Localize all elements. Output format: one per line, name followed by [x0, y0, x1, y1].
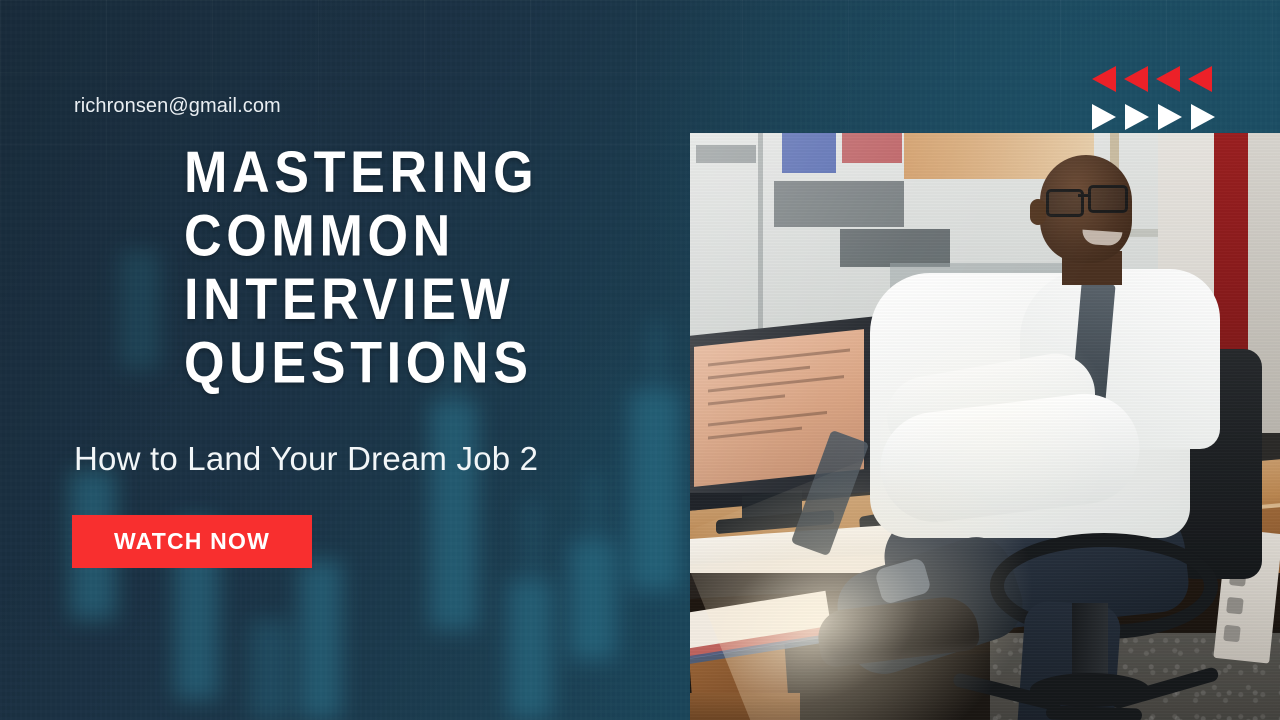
title-line-4: QUESTIONS — [184, 330, 621, 393]
eyeglasses-icon — [1088, 185, 1128, 213]
arrow-right-icon — [1125, 104, 1149, 130]
video-thumbnail-slide: richronsen@gmail.com MASTERING COMMON IN… — [0, 0, 1280, 720]
wall-panel-dark — [840, 229, 950, 267]
title-line-1: MASTERING — [184, 140, 621, 203]
chair-caster — [1046, 705, 1142, 720]
wall-panel-red — [842, 133, 902, 163]
eyeglasses-bridge — [1078, 194, 1090, 197]
red-arrow-group — [1092, 66, 1212, 92]
wall-panel-blue — [782, 133, 836, 173]
arrow-left-icon — [1188, 66, 1212, 92]
contact-email: richronsen@gmail.com — [74, 95, 281, 118]
arrow-left-icon — [1092, 66, 1116, 92]
arrow-right-icon — [1191, 104, 1215, 130]
arrow-right-icon — [1092, 104, 1116, 130]
wall-panel-dark — [696, 145, 756, 163]
wooden-cabinet — [690, 693, 800, 720]
white-arrow-group — [1092, 104, 1215, 130]
arrow-right-icon — [1158, 104, 1182, 130]
person-ear — [1030, 199, 1046, 225]
page-title: MASTERING COMMON INTERVIEW QUESTIONS — [184, 140, 621, 394]
subtitle: How to Land Your Dream Job 2 — [74, 440, 538, 478]
title-line-3: INTERVIEW — [184, 267, 621, 330]
watch-now-button[interactable]: WATCH NOW — [72, 515, 312, 568]
title-line-2: COMMON — [184, 203, 621, 266]
arrow-left-icon — [1124, 66, 1148, 92]
arrow-left-icon — [1156, 66, 1180, 92]
wall-panel-dark — [774, 181, 904, 227]
speaker-photo — [690, 133, 1280, 720]
